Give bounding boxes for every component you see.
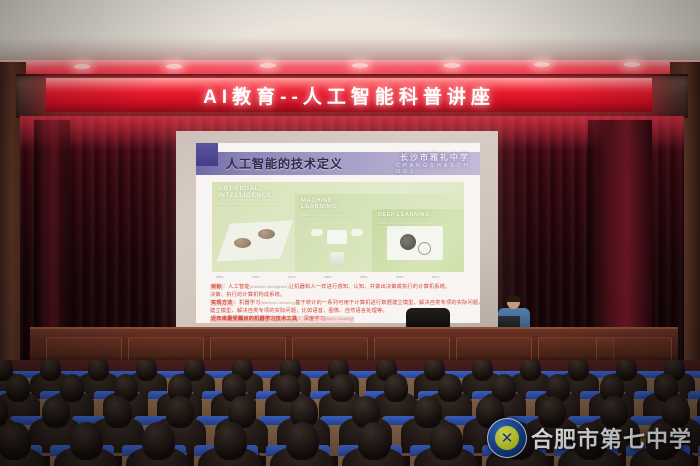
ml-tag-right xyxy=(351,229,363,236)
slide-body-text: ：机器学习 xyxy=(234,300,261,306)
school-logo-icon: ✕ xyxy=(487,418,527,458)
venn-label-ml: MACHINE LEARNING Machine learning begins… xyxy=(301,198,369,221)
audience-member-head xyxy=(40,360,61,381)
audience-member-head xyxy=(88,360,109,381)
audience-member-head xyxy=(0,422,31,460)
curtain-fold-left xyxy=(34,120,70,360)
watermark: ✕ 合肥市第七中学 xyxy=(487,418,692,458)
venn-label-dl: DEEP LEARNING Deep learning breakthrough… xyxy=(378,213,442,229)
timeline-tick: 1960's xyxy=(252,276,260,279)
slide-body-text: 建立模型、解决自类专项的实际问题，比如语音、图像、自然语言处理等。 xyxy=(210,308,388,314)
school-logo-glyph: ✕ xyxy=(495,426,519,450)
timeline-tick: 1970's xyxy=(288,276,296,279)
timeline-ticks: 1950's 1960's 1970's 1980's 1990's 2000'… xyxy=(212,274,464,281)
slide-body-key: 近年来最受瞩目的机器学习技术工具 xyxy=(210,316,298,322)
curtain-fold-right xyxy=(588,120,652,360)
ceiling-shadow xyxy=(0,38,700,62)
timeline-tick: 1980's xyxy=(324,276,332,279)
downlight xyxy=(624,62,640,67)
auditorium-photo: AI教育--人工智能科普讲座 人工智能的技术定义 长沙市雅礼中学 C H A N… xyxy=(0,0,700,466)
audience-member-head xyxy=(214,422,247,460)
slide-header-chip xyxy=(196,143,218,166)
audience-member-head xyxy=(104,396,132,428)
slide-body-tail: 基于统计的一系列可用于计算机进行数据建立模型、解决自类专项的实际问题，比如语音、… xyxy=(295,300,480,306)
slide-body-text: 决策、执行的计算机构成系统。 xyxy=(210,292,285,298)
slide-body-line: 实现方法：机器学习(Machine Learning)基于统计的一系列可用于计算… xyxy=(210,300,480,307)
slide-org-logo-en: C H A N G S H A S C H O O L xyxy=(396,163,474,175)
audience-member-head xyxy=(42,396,70,428)
downlight xyxy=(166,64,182,69)
ai-ml-dl-diagram: ARTIFICIAL INTELLIGENCE Early artificial… xyxy=(212,182,464,272)
downlight xyxy=(352,63,368,68)
audience-member-head xyxy=(358,422,391,460)
audience-member-head xyxy=(136,360,157,381)
ml-mail-icon xyxy=(327,230,347,244)
downlight xyxy=(534,62,550,67)
audience-member-head xyxy=(286,422,319,460)
slide-body-line: 建立模型、解决自类专项的实际问题，比如语音、图像、自然语言处理等。 xyxy=(210,308,388,315)
lecturer-hair xyxy=(506,295,521,302)
slide-org-logo-cn: 长沙市雅礼中学 xyxy=(400,152,470,163)
audience-member-head xyxy=(414,396,442,428)
timeline-tick: 2000's xyxy=(396,276,404,279)
audience-member-head xyxy=(520,360,541,381)
slide-body-text: ：人工智能 xyxy=(223,284,250,290)
slide-body-line-highlight: 近年来最受瞩目的机器学习技术工具：深度学习(Deep Learning) xyxy=(210,316,354,323)
ml-bin-icon xyxy=(330,252,344,268)
slide-body-key: 目标 xyxy=(210,284,223,290)
presentation-slide: 人工智能的技术定义 长沙市雅礼中学 C H A N G S H A S C H … xyxy=(196,143,480,323)
audience-member-head xyxy=(568,360,589,381)
audience-member-head xyxy=(384,374,408,402)
audience-member-head xyxy=(6,374,30,402)
dl-magnifier-icon xyxy=(418,242,431,255)
downlight xyxy=(74,64,90,69)
audience-member-head xyxy=(70,422,103,460)
audience-member-head xyxy=(472,360,493,381)
slide-body-key: 实现方法 xyxy=(210,300,234,306)
venn-label-ai: ARTIFICIAL INTELLIGENCE Early artificial… xyxy=(218,186,288,210)
audience-member-head xyxy=(166,396,194,428)
audience-member-head xyxy=(330,374,354,402)
slide-title: 人工智能的技术定义 xyxy=(226,153,343,174)
ml-tag-left xyxy=(311,229,323,236)
downlight xyxy=(260,63,276,68)
slide-body-line: 目标：人工智能(Artificial Intelligence)让机器和人一样进… xyxy=(210,284,451,291)
audience-member-head xyxy=(142,422,175,460)
slide-body-line: 决策、执行的计算机构成系统。 xyxy=(210,292,285,299)
audience-member-head xyxy=(60,374,84,402)
go-stone xyxy=(234,238,251,248)
timeline-tick: 1950's xyxy=(216,276,224,279)
slide-body-text: ：深度学习 xyxy=(298,316,325,322)
go-stone xyxy=(258,229,275,239)
timeline-tick: 1990's xyxy=(360,276,368,279)
slide-body-en: (Deep Learning) xyxy=(325,317,354,321)
slide-body-tail: 让机器和人一样进行感知、认知、并做出决策或执行的计算机系统。 xyxy=(289,284,451,290)
timeline-tick: 2010's xyxy=(432,276,440,279)
slide-body-en: (Machine Learning) xyxy=(261,301,296,305)
audience-member-head xyxy=(430,422,463,460)
dl-cat-icon xyxy=(400,234,416,250)
slide-body-en: (Artificial Intelligence) xyxy=(250,285,289,289)
audience-member-head xyxy=(438,374,462,402)
downlight xyxy=(444,63,460,68)
slide-org-logo: 长沙市雅礼中学 C H A N G S H A S C H O O L xyxy=(396,154,474,173)
school-name: 合肥市第七中学 xyxy=(531,422,692,454)
banner-title: AI教育--人工智能科普讲座 xyxy=(46,78,652,112)
